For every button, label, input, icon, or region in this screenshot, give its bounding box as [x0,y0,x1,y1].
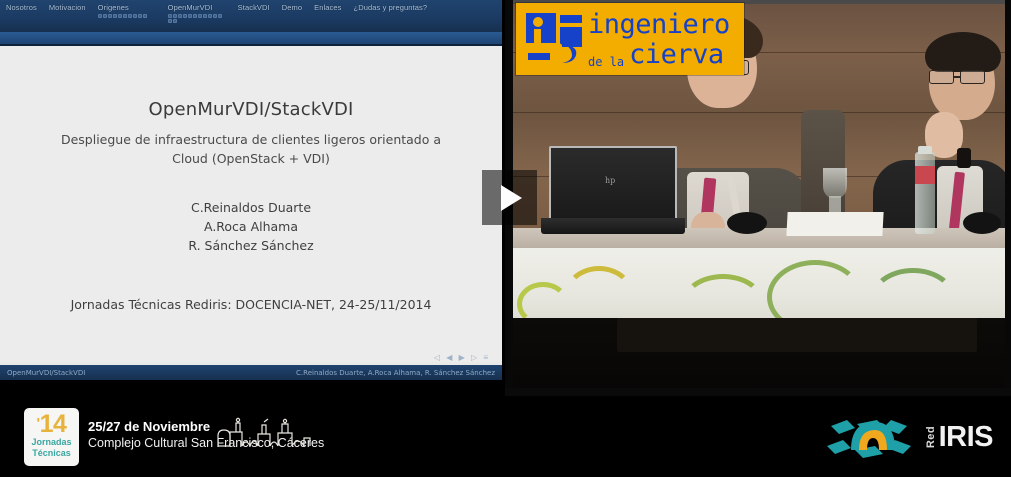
microphone-base [963,212,1001,234]
ies-ingeniero-de-la-cierva-logo: e ingeniero de la cierva [516,3,744,75]
nav-item-origenes[interactable]: Origenes [92,3,162,18]
nav-slide-dot[interactable] [173,14,177,18]
panelist-glasses-bridge [954,76,960,78]
caceres-skyline-icon [216,414,312,448]
slide-body: OpenMurVDI/StackVDI Despliegue de infrae… [0,46,502,362]
screenshot-root: NosotrosMotivacionOrigenesOpenMurVDIStac… [0,0,1011,477]
video-pane[interactable]: hp [505,0,1011,396]
nav-item-label: Nosotros [6,3,37,13]
nav-slide-dot[interactable] [103,14,107,18]
jornadas-tecnicas-badge: '14 Jornadas Técnicas [24,408,79,466]
slide-navigation-icons[interactable]: ◁ ◀ ▶ ▷ ≡ [0,353,502,362]
nav-slide-dot[interactable] [193,14,197,18]
play-icon [501,185,522,211]
nav-slide-dot[interactable] [98,14,102,18]
ies-mark-svg: e [524,11,586,67]
video-frame: hp [505,0,1011,396]
panelist-glasses-left [929,70,954,84]
laptop-brand-logo: hp [605,176,615,185]
slide-title: OpenMurVDI/StackVDI [0,99,502,120]
ies-logo-word-cierva: cierva [629,41,724,68]
slide-pane: NosotrosMotivacionOrigenesOpenMurVDIStac… [0,0,502,380]
nav-slide-dot[interactable] [208,14,212,18]
slide-footer-authors: C.Reinaldos Duarte, A.Roca Alhama, R. Sá… [296,369,495,377]
decor-swirl [767,260,863,326]
rediris-wordmark: Red IRIS [920,414,993,460]
author-name: A.Roca Alhama [0,217,502,236]
ies-logo-line2: de la cierva [588,41,730,68]
panelist-watch [957,148,971,168]
slide-authors: C.Reinaldos Duarte A.Roca Alhama R. Sánc… [0,198,502,255]
decor-swirl [563,266,635,326]
nav-slide-dot[interactable] [213,14,217,18]
slide-footer: OpenMurVDI/StackVDI C.Reinaldos Duarte, … [0,365,502,380]
nav-item-openmurvdi[interactable]: OpenMurVDI [162,3,232,23]
nav-item-label: OpenMurVDI [168,3,213,13]
nav-item-label: StackVDI [238,3,270,13]
video-bottom-edge [505,388,1011,396]
nav-slide-dot[interactable] [113,14,117,18]
nav-slide-dot[interactable] [188,14,192,18]
nav-item-slide-dots[interactable] [168,14,226,23]
rediris-mark-svg [821,410,925,464]
beamer-navigation-strip [0,32,502,44]
nav-slide-dot[interactable] [108,14,112,18]
beamer-navigation-bar[interactable]: NosotrosMotivacionOrigenesOpenMurVDIStac… [0,0,502,32]
nav-slide-dot[interactable] [168,14,172,18]
author-name: C.Reinaldos Duarte [0,198,502,217]
nav-slide-dot[interactable] [168,19,172,23]
badge-year: '14 [24,411,79,437]
author-name: R. Sánchez Sánchez [0,236,502,255]
slide-subtitle-line2: Cloud (OpenStack + VDI) [172,151,330,166]
rediris-word-red: Red [925,426,937,448]
foreground-bench [617,318,977,352]
nav-item-slide-dots[interactable] [98,14,156,18]
badge-line-jornadas: Jornadas [24,437,79,448]
table-front-panel [505,248,1011,326]
ies-logo-prefix-de-la: de la [588,56,624,68]
nav-slide-dot[interactable] [178,14,182,18]
nav-item-dudas-y-preguntas[interactable]: ¿Dudas y preguntas? [348,3,434,13]
laptop-base [541,218,685,234]
nav-slide-dot[interactable] [203,14,207,18]
drinking-glass [823,168,847,198]
badge-year-number: 14 [40,410,67,438]
paper-sheet [786,212,883,236]
nav-slide-dot[interactable] [198,14,202,18]
nav-item-label: ¿Dudas y preguntas? [354,3,428,13]
nav-item-motivacion[interactable]: Motivacion [43,3,92,13]
video-right-edge [1005,0,1011,396]
nav-slide-dot[interactable] [128,14,132,18]
nav-slide-dot[interactable] [138,14,142,18]
nav-item-label: Origenes [98,3,129,13]
ies-logo-word-ingeniero: ingeniero [588,11,730,38]
play-button[interactable] [482,170,537,225]
water-bottle [915,152,935,234]
nav-item-demo[interactable]: Demo [276,3,308,13]
nav-item-nosotros[interactable]: Nosotros [0,3,43,13]
bottom-branding-bar: '14 Jornadas Técnicas 25/27 de Noviembre… [0,396,1011,477]
bottle-cap [918,146,932,154]
nav-item-label: Demo [282,3,302,13]
bottle-label [915,166,935,184]
microphone-base [727,212,767,234]
ies-logo-mark: e [524,11,586,67]
slide-subtitle-line1: Despliegue de infraestructura de cliente… [61,132,441,147]
nav-slide-dot[interactable] [123,14,127,18]
slide-venue: Jornadas Técnicas Rediris: DOCENCIA-NET,… [0,297,502,312]
nav-slide-dot[interactable] [118,14,122,18]
ies-logo-wordmark: ingeniero de la cierva [588,11,730,68]
nav-slide-dot[interactable] [143,14,147,18]
badge-line-tecnicas: Técnicas [24,448,79,459]
skyline-svg [216,414,312,448]
nav-item-label: Enlaces [314,3,341,13]
nav-slide-dot[interactable] [183,14,187,18]
slide-subtitle: Despliegue de infraestructura de cliente… [0,130,502,168]
nav-item-label: Motivacion [49,3,86,13]
nav-item-enlaces[interactable]: Enlaces [308,3,347,13]
nav-slide-dot[interactable] [218,14,222,18]
slide-footer-title: OpenMurVDI/StackVDI [7,369,85,377]
nav-item-stackvdi[interactable]: StackVDI [232,3,276,13]
svg-text:e: e [550,36,563,61]
panelist-glasses-right [960,70,985,84]
rediris-logo-mark [821,410,925,464]
nav-slide-dot[interactable] [173,19,177,23]
rediris-logo: Red IRIS [821,410,993,464]
rediris-word-iris: IRIS [939,421,993,454]
nav-slide-dot[interactable] [133,14,137,18]
